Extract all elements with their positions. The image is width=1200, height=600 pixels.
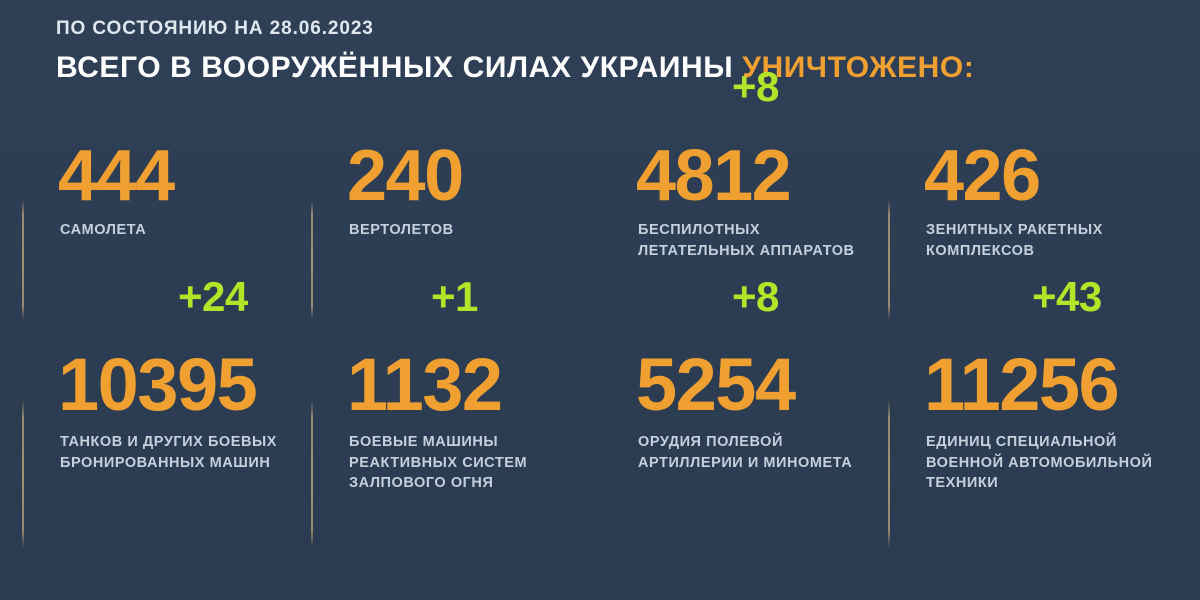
stat-cell: +24 10395 ТАНКОВ И ДРУГИХ БОЕВЫХ БРОНИРО… xyxy=(22,336,312,562)
stat-label-line: ЕДИНИЦ СПЕЦИАЛЬНОЙ xyxy=(926,432,1152,453)
cell-divider xyxy=(888,200,890,320)
stat-label: САМОЛЕТА xyxy=(60,220,146,241)
cell-divider xyxy=(311,200,313,320)
stat-label: ТАНКОВ И ДРУГИХ БОЕВЫХ БРОНИРОВАННЫХ МАШ… xyxy=(60,432,277,473)
cell-divider xyxy=(888,400,890,548)
stat-value: 10395 xyxy=(58,348,256,422)
stat-label-line: РЕАКТИВНЫХ СИСТЕМ xyxy=(349,453,527,474)
header: ПО СОСТОЯНИЮ НА 28.06.2023 ВСЕГО В ВООРУ… xyxy=(56,18,1176,85)
delta-badge: +43 xyxy=(1032,276,1102,318)
stats-row: +24 10395 ТАНКОВ И ДРУГИХ БОЕВЫХ БРОНИРО… xyxy=(0,336,1200,562)
stat-cell: +8 5254 ОРУДИЯ ПОЛЕВОЙ АРТИЛЛЕРИИ И МИНО… xyxy=(600,336,888,562)
stat-label-line: САМОЛЕТА xyxy=(60,220,146,241)
stat-cell: 444 САМОЛЕТА xyxy=(22,128,312,354)
stat-value: 444 xyxy=(58,140,174,212)
cell-divider xyxy=(311,400,313,548)
stat-label-line: АРТИЛЛЕРИИ И МИНОМЕТА xyxy=(638,453,852,474)
delta-badge: +8 xyxy=(732,66,779,108)
cell-divider xyxy=(22,400,24,548)
stat-label-line: ТАНКОВ И ДРУГИХ БОЕВЫХ xyxy=(60,432,277,453)
stat-value: 5254 xyxy=(636,348,795,422)
stat-label-line: БРОНИРОВАННЫХ МАШИН xyxy=(60,453,277,474)
delta-badge: +8 xyxy=(732,276,779,318)
stat-cell: +1 1132 БОЕВЫЕ МАШИНЫ РЕАКТИВНЫХ СИСТЕМ … xyxy=(311,336,601,562)
stat-cell: 240 ВЕРТОЛЕТОВ xyxy=(311,128,601,354)
stat-label: ОРУДИЯ ПОЛЕВОЙ АРТИЛЛЕРИИ И МИНОМЕТА xyxy=(638,432,852,473)
stat-label-line: БЕСПИЛОТНЫХ xyxy=(638,220,855,241)
stat-label-line: КОМПЛЕКСОВ xyxy=(926,241,1103,262)
cell-divider xyxy=(22,200,24,320)
stat-label-line: ВОЕННОЙ АВТОМОБИЛЬНОЙ xyxy=(926,453,1152,474)
stat-cell: 426 ЗЕНИТНЫХ РАКЕТНЫХ КОМПЛЕКСОВ xyxy=(888,128,1178,354)
stat-cell: +43 11256 ЕДИНИЦ СПЕЦИАЛЬНОЙ ВОЕННОЙ АВТ… xyxy=(888,336,1178,562)
stat-value: 11256 xyxy=(924,348,1118,422)
stats-grid: 444 САМОЛЕТА 240 ВЕРТОЛЕТОВ xyxy=(0,128,1200,580)
stat-label-line: БОЕВЫЕ МАШИНЫ xyxy=(349,432,527,453)
stat-label: ВЕРТОЛЕТОВ xyxy=(349,220,454,241)
stat-label: ЕДИНИЦ СПЕЦИАЛЬНОЙ ВОЕННОЙ АВТОМОБИЛЬНОЙ… xyxy=(926,432,1152,494)
stat-label: БОЕВЫЕ МАШИНЫ РЕАКТИВНЫХ СИСТЕМ ЗАЛПОВОГ… xyxy=(349,432,527,494)
stat-label: ЗЕНИТНЫХ РАКЕТНЫХ КОМПЛЕКСОВ xyxy=(926,220,1103,261)
infographic-board: ПО СОСТОЯНИЮ НА 28.06.2023 ВСЕГО В ВООРУ… xyxy=(0,0,1200,600)
stat-value: 1132 xyxy=(347,348,502,422)
stat-label-line: ТЕХНИКИ xyxy=(926,473,1152,494)
stat-label-line: ОРУДИЯ ПОЛЕВОЙ xyxy=(638,432,852,453)
stat-label: БЕСПИЛОТНЫХ ЛЕТАТЕЛЬНЫХ АППАРАТОВ xyxy=(638,220,855,261)
stat-cell: +8 4812 БЕСПИЛОТНЫХ ЛЕТАТЕЛЬНЫХ АППАРАТО… xyxy=(600,128,888,354)
delta-badge: +24 xyxy=(178,276,248,318)
stat-value: 426 xyxy=(924,140,1040,212)
stat-label-line: ЗАЛПОВОГО ОГНЯ xyxy=(349,473,527,494)
page-title-main: ВСЕГО В ВООРУЖЁННЫХ СИЛАХ УКРАИНЫ xyxy=(56,51,733,84)
stat-value: 240 xyxy=(347,140,463,212)
delta-badge: +1 xyxy=(431,276,478,318)
stats-row: 444 САМОЛЕТА 240 ВЕРТОЛЕТОВ xyxy=(0,128,1200,354)
stat-label-line: ЗЕНИТНЫХ РАКЕТНЫХ xyxy=(926,220,1103,241)
page-title: ВСЕГО В ВООРУЖЁННЫХ СИЛАХ УКРАИНЫ УНИЧТО… xyxy=(56,51,1176,86)
stat-value: 4812 xyxy=(636,140,790,212)
header-date: ПО СОСТОЯНИЮ НА 28.06.2023 xyxy=(56,18,1176,41)
stat-label-line: ЛЕТАТЕЛЬНЫХ АППАРАТОВ xyxy=(638,241,855,262)
stat-label-line: ВЕРТОЛЕТОВ xyxy=(349,220,454,241)
